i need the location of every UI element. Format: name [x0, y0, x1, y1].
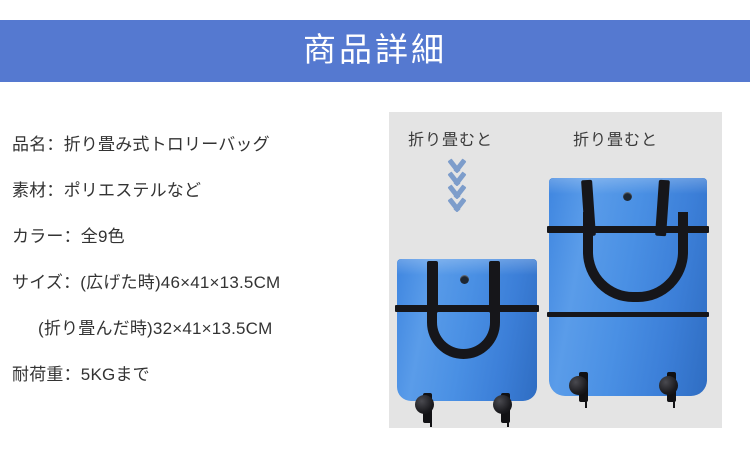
- chevron-down-icon: [444, 186, 470, 199]
- product-photo-panel: 折り畳むと 折り畳むと: [389, 112, 722, 428]
- bag-snap-button: [623, 192, 632, 201]
- wheel-right: [493, 395, 512, 414]
- chevron-down-icon: [444, 199, 470, 212]
- chevron-down-icon: [444, 160, 470, 173]
- spec-line-load-capacity: 耐荷重：5KGまで: [12, 352, 377, 398]
- bag-top-lip: [397, 259, 537, 275]
- caption-folded: 折り畳むと: [408, 126, 493, 150]
- wheel-left: [415, 395, 434, 414]
- chevron-down-icon-stack: [444, 160, 474, 222]
- page-title: 商品詳細: [303, 35, 447, 68]
- expanded-trolley-bag-image: [549, 162, 707, 427]
- chevron-down-icon: [444, 173, 470, 186]
- bag-snap-button: [460, 275, 469, 284]
- spec-line-size-expanded: サイズ：(広げた時)46×41×13.5CM: [12, 260, 377, 306]
- spec-line-material: 素材：ポリエステルなど: [12, 168, 377, 214]
- bag-strap-band-upper: [547, 226, 709, 233]
- header-banner: 商品詳細: [0, 20, 750, 82]
- spec-line-size-folded: (折り畳んだ時)32×41×13.5CM: [12, 306, 377, 352]
- bag-strap-band: [395, 305, 539, 312]
- product-spec-list: 品名：折り畳み式トロリーバッグ 素材：ポリエステルなど カラー：全9色 サイズ：…: [12, 122, 377, 398]
- bag-strap-band-lower: [547, 312, 709, 317]
- spec-line-product-name: 品名：折り畳み式トロリーバッグ: [12, 122, 377, 168]
- wheel-right: [659, 376, 678, 395]
- spec-line-color: カラー：全9色: [12, 214, 377, 260]
- wheel-left: [569, 376, 588, 395]
- caption-expanded: 折り畳むと: [573, 126, 658, 150]
- folded-trolley-bag-image: [397, 237, 537, 427]
